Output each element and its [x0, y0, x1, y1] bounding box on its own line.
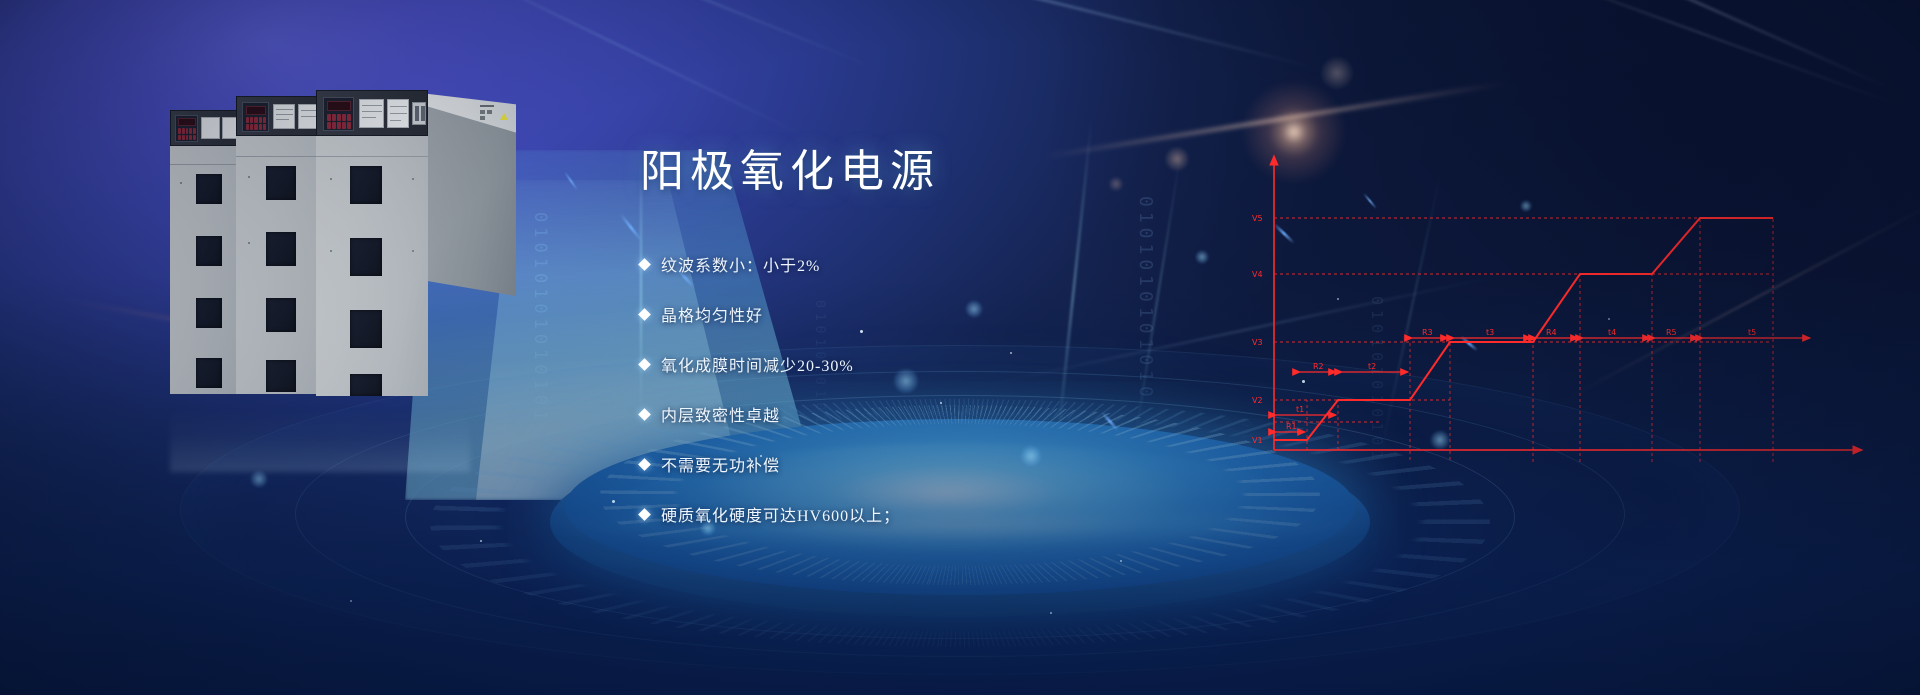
vignette-overlay	[0, 0, 1920, 695]
hero-banner: 01010101010101 0101010101010 01010101010…	[0, 0, 1920, 695]
